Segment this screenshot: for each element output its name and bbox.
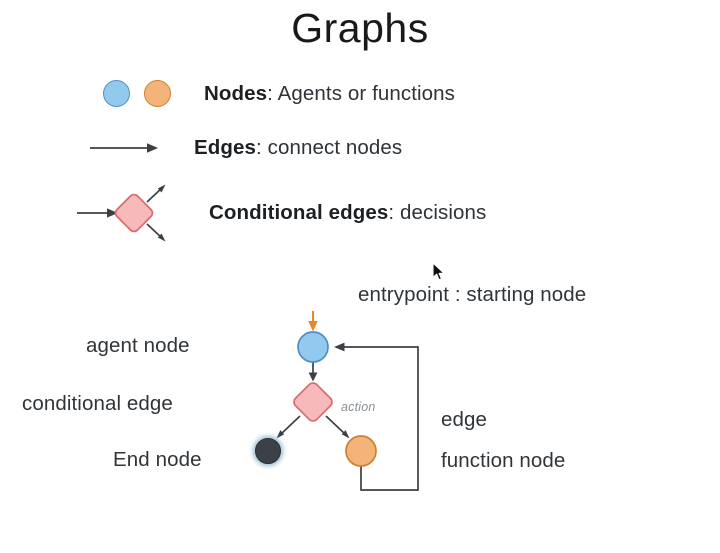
label-entrypoint: entrypoint : starting node — [358, 283, 586, 307]
label-conditional-edge: conditional edge — [22, 392, 173, 416]
node-function[interactable] — [346, 436, 376, 466]
edge-agent-to-conditional — [309, 362, 318, 382]
label-action: action — [341, 400, 376, 414]
label-end-node: End node — [113, 448, 202, 472]
edge-conditional-to-function — [326, 416, 350, 439]
label-edge: edge — [441, 408, 487, 432]
label-agent-node: agent node — [86, 334, 190, 358]
edge-function-loop-to-agent — [334, 343, 418, 490]
node-end[interactable] — [253, 436, 283, 466]
node-agent[interactable] — [298, 332, 328, 362]
flow-diagram-canvas — [0, 0, 720, 553]
edge-conditional-to-end — [277, 416, 301, 439]
edge-entrypoint-arrow — [308, 311, 318, 332]
label-function-node: function node — [441, 449, 565, 473]
